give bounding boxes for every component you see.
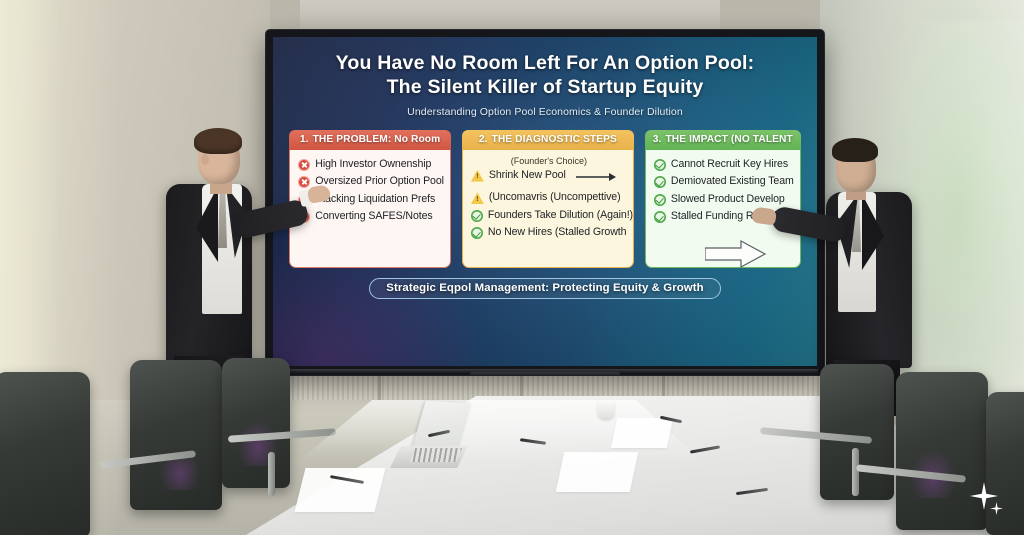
panel-problem-item-3: Stacking Liquidation Prefs [315,193,435,205]
check-circle-icon [654,159,666,171]
presenter-right-hair [832,138,878,162]
list-item: (Uncomavris (Uncompettive) [471,191,627,204]
panel-diagnostic-header: 2. THE DIAGNOSTIC STEPS [462,130,634,150]
panel-problem-number: 1. [300,134,309,145]
laptop [390,440,462,500]
list-item: Slowed Product Develop [654,193,794,206]
slide-title-line-1: You Have No Room Left For An Option Pool… [273,52,817,76]
panel-diagnostic-subheading: (Founder's Choice) [471,154,627,166]
paper-sheet [556,452,639,492]
check-circle-icon [654,194,666,206]
list-item: Founders Take Dilution (Again!) [471,209,627,222]
paper-sheet [295,468,386,512]
check-circle-icon [654,176,666,188]
list-item: Cannot Recruit Key Hires [654,158,794,171]
tv-bottom-trim [470,372,620,376]
list-item: Converting SAFES/Notes [298,210,444,223]
slide-banner: Strategic Eqpol Management: Protecting E… [369,278,720,299]
panel-problem-header: 1. THE PROBLEM: No Room [289,130,451,150]
panel-impact-item-3: Slowed Product Develop [671,193,785,205]
check-circle-icon [471,227,483,239]
paper-sheet [611,418,673,448]
panel-diagnostic: 2. THE DIAGNOSTIC STEPS (Founder's Choic… [462,130,634,268]
warning-triangle-icon [471,192,484,204]
check-circle-icon [471,210,483,222]
x-circle-icon [298,176,310,188]
presentation-slide: You Have No Room Left For An Option Pool… [273,37,817,366]
panel-diagnostic-item-2: (Uncomavris (Uncompettive) [489,191,621,203]
warning-triangle-icon [471,170,484,182]
laptop-keyboard [410,448,462,462]
presenter-left-ear [201,154,209,165]
list-item: Shrink New Pool [471,169,627,187]
panel-problem-heading: THE PROBLEM: No Room [313,134,441,145]
panel-impact-heading: THE IMPACT (NO TALENT [665,134,792,145]
panel-diagnostic-heading: THE DIAGNOSTIC STEPS [492,134,617,145]
slide-title-line-2: The Silent Killer of Startup Equity [273,76,817,100]
panel-diagnostic-body: (Founder's Choice) Shrink New Pool [462,150,634,268]
panel-problem-item-2: Oversized Prior Option Pool [315,175,444,187]
check-circle-icon [654,211,666,223]
panel-impact-item-1: Cannot Recruit Key Hires [671,158,788,170]
panel-diagnostic-item-1: Shrink New Pool [489,169,566,181]
wall-mounted-tv: You Have No Room Left For An Option Pool… [266,30,824,375]
slide-title-block: You Have No Room Left For An Option Pool… [273,37,817,118]
panel-impact-number: 3. [653,134,662,145]
slide-subtitle: Understanding Option Pool Economics & Fo… [273,106,817,118]
slide-banner-row: Strategic Eqpol Management: Protecting E… [273,278,817,299]
panel-diagnostic-number: 2. [479,134,488,145]
panel-diagnostic-item-4: No New Hires (Stalled Growth [488,226,627,238]
panel-problem-item-4: Converting SAFES/Notes [315,210,432,222]
panel-impact-item-2: Demiovated Existing Team [671,175,794,187]
list-item: Demiovated Existing Team [654,175,794,188]
right-arrow-icon [576,169,616,187]
list-item: High Investor Ownenship [298,158,444,171]
panel-problem-body: High Investor Ownenship Oversized Prior … [289,150,451,268]
list-item: No New Hires (Stalled Growth [471,226,627,239]
conference-room-scene: You Have No Room Left For An Option Pool… [0,0,1024,535]
panel-impact-header: 3. THE IMPACT (NO TALENT [645,130,801,150]
panel-diagnostic-item-3: Founders Take Dilution (Again!) [488,209,633,221]
flow-arrow-icon [705,239,767,269]
presenter-left-hair [194,128,242,154]
coffee-cup [598,400,614,418]
left-wall-light [0,0,60,380]
x-circle-icon [298,159,310,171]
panel-problem-item-1: High Investor Ownenship [315,158,431,170]
